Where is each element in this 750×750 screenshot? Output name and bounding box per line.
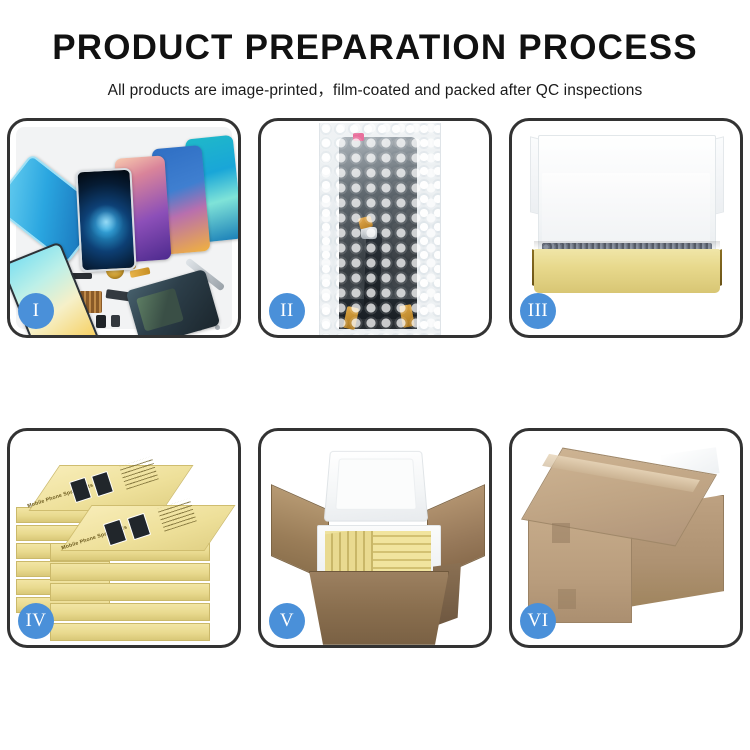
yellow-box-tray	[534, 249, 720, 293]
pink-label-sticker	[353, 133, 364, 141]
small-part-3	[96, 315, 106, 328]
step-badge-5: V	[269, 603, 305, 639]
carton-tab-bottom	[558, 589, 576, 609]
process-step-5[interactable]: V	[258, 428, 492, 648]
step-badge-1: I	[18, 293, 54, 329]
process-step-2[interactable]: II	[258, 118, 492, 338]
carton-front-panel	[309, 571, 449, 645]
page-title: PRODUCT PREPARATION PROCESS	[0, 30, 750, 67]
box-front-2	[50, 563, 210, 581]
foam-sheet	[542, 173, 710, 249]
yellow-boxes-group-left	[325, 531, 373, 575]
process-step-4[interactable]: Mobile Phone Spare Parts Mobile Phone Sp…	[7, 428, 241, 648]
step-badge-2: II	[269, 293, 305, 329]
box-front-5	[50, 623, 210, 641]
tray-inner-shadow	[534, 241, 720, 249]
page-header: PRODUCT PREPARATION PROCESS All products…	[0, 0, 750, 100]
yellow-boxes-group-right	[373, 531, 431, 575]
carton-tab-front	[552, 523, 570, 543]
small-part-4	[111, 315, 120, 327]
yellow-boxes-inside	[325, 531, 431, 575]
step-badge-6: VI	[520, 603, 556, 639]
process-step-grid: I II III	[0, 118, 750, 648]
foam-lid	[324, 451, 429, 522]
page-subtitle: All products are image-printed，film-coat…	[0, 78, 750, 100]
box-front-3	[50, 583, 210, 601]
box-front-4	[50, 603, 210, 621]
step-badge-3: III	[520, 293, 556, 329]
process-step-3[interactable]: III	[509, 118, 743, 338]
lcd-flex-cable	[364, 232, 383, 307]
process-step-6[interactable]: VI	[509, 428, 743, 648]
process-step-1[interactable]: I	[7, 118, 241, 338]
step-badge-4: IV	[18, 603, 54, 639]
phone-glass-panel	[75, 167, 136, 272]
